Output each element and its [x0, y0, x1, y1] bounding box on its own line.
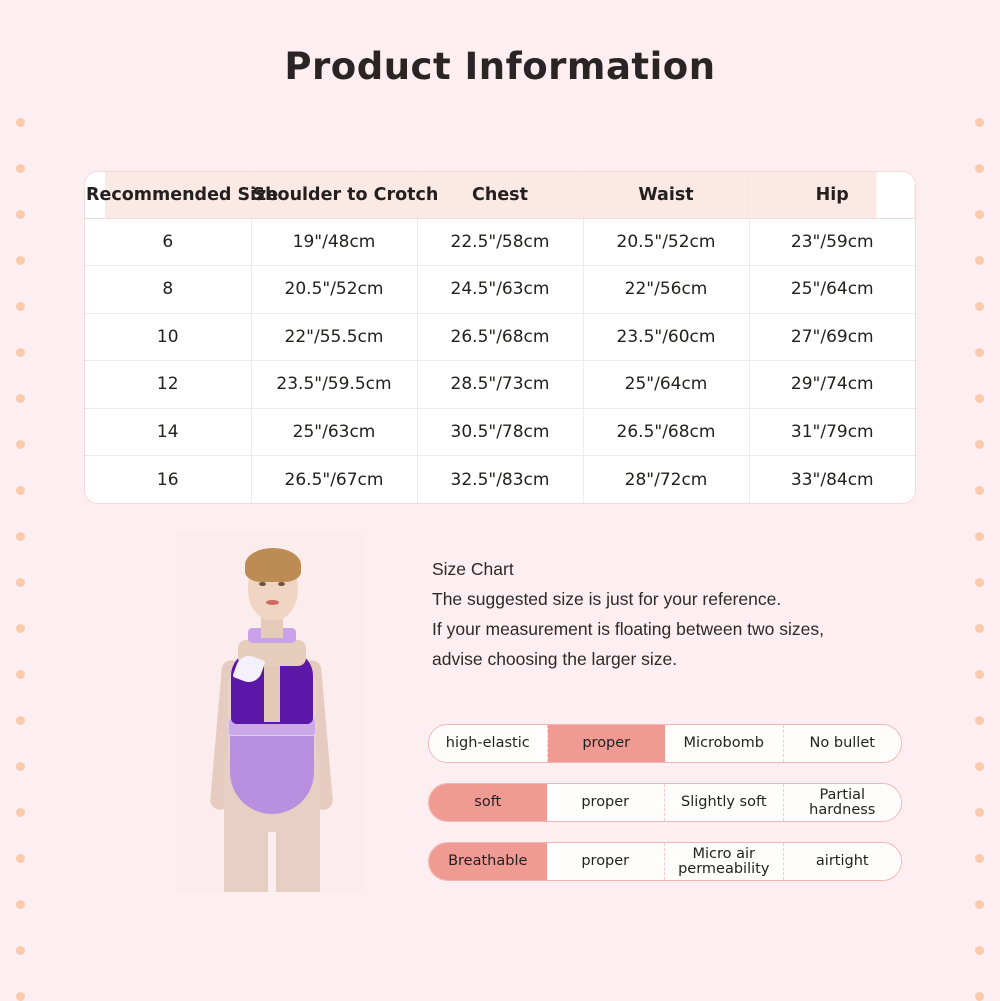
decorative-dot [16, 210, 25, 219]
decorative-dot [975, 670, 984, 679]
attribute-bar-elasticity: high-elasticproperMicrobombNo bullet [428, 724, 902, 763]
decorative-dot [975, 854, 984, 863]
decorative-dot [975, 486, 984, 495]
decorative-dot [16, 808, 25, 817]
table-row: 820.5"/52cm24.5"/63cm22"/56cm25"/64cm [85, 266, 915, 314]
right-dot-column [960, 0, 1000, 1000]
decorative-dot [975, 302, 984, 311]
page-title: Product Information [0, 45, 1000, 88]
model-eye-left [259, 582, 266, 586]
size-note-line-3: advise choosing the larger size. [432, 644, 912, 674]
attribute-segment[interactable]: No bullet [784, 725, 902, 762]
decorative-dot [16, 578, 25, 587]
table-cell: 31"/79cm [749, 408, 915, 456]
decorative-dot [16, 624, 25, 633]
model-mouth [266, 600, 279, 605]
decorative-dot [975, 348, 984, 357]
decorative-dot [975, 210, 984, 219]
decorative-dot [16, 394, 25, 403]
decorative-dot [16, 118, 25, 127]
decorative-dot [975, 394, 984, 403]
table-cell: 27"/69cm [749, 313, 915, 361]
table-cell: 23.5"/59.5cm [251, 361, 417, 409]
table-column-header-1: Shoulder to Crotch [251, 172, 417, 218]
table-cell: 22"/56cm [583, 266, 749, 314]
decorative-dot [16, 532, 25, 541]
table-cell: 24.5"/63cm [417, 266, 583, 314]
attribute-segment[interactable]: airtight [784, 843, 902, 880]
table-cell: 25"/63cm [251, 408, 417, 456]
table-cell: 29"/74cm [749, 361, 915, 409]
decorative-dot [975, 578, 984, 587]
model-eye-right [278, 582, 285, 586]
table-body: 619"/48cm22.5"/58cm20.5"/52cm23"/59cm820… [85, 218, 915, 503]
decorative-dot [975, 946, 984, 955]
decorative-dot [975, 808, 984, 817]
table-row: 1425"/63cm30.5"/78cm26.5"/68cm31"/79cm [85, 408, 915, 456]
decorative-dot [975, 440, 984, 449]
table-cell: 20.5"/52cm [251, 266, 417, 314]
table-cell: 32.5"/83cm [417, 456, 583, 504]
table-row: 1223.5"/59.5cm28.5"/73cm25"/64cm29"/74cm [85, 361, 915, 409]
table-cell: 14 [85, 408, 251, 456]
table-cell: 23.5"/60cm [583, 313, 749, 361]
attribute-segment[interactable]: high-elastic [429, 725, 548, 762]
table-row: 619"/48cm22.5"/58cm20.5"/52cm23"/59cm [85, 218, 915, 266]
attribute-segment[interactable]: Microbomb [665, 725, 784, 762]
decorative-dot [16, 762, 25, 771]
table-cell: 8 [85, 266, 251, 314]
left-dot-column [0, 0, 40, 1000]
table-cell: 28"/72cm [583, 456, 749, 504]
table-column-header-2: Chest [417, 172, 583, 218]
table-cell: 12 [85, 361, 251, 409]
decorative-dot [975, 716, 984, 725]
table-column-header-4: Hip [749, 172, 915, 218]
model-leg-gap [268, 832, 276, 892]
size-note-heading: Size Chart [432, 554, 912, 584]
decorative-dot [16, 440, 25, 449]
size-chart-note: Size Chart The suggested size is just fo… [432, 554, 912, 674]
table-cell: 22.5"/58cm [417, 218, 583, 266]
decorative-dot [16, 946, 25, 955]
table-cell: 25"/64cm [749, 266, 915, 314]
attribute-bars: high-elasticproperMicrobombNo bulletsoft… [428, 724, 902, 901]
decorative-dot [975, 762, 984, 771]
table-cell: 25"/64cm [583, 361, 749, 409]
table-cell: 26.5"/67cm [251, 456, 417, 504]
table-header-row: Recommended SizeShoulder to CrotchChestW… [85, 172, 915, 218]
attribute-segment-active[interactable]: Breathable [429, 843, 547, 880]
decorative-dot [16, 164, 25, 173]
attribute-bar-breathability: BreathableproperMicro air permeabilityai… [428, 842, 902, 881]
attribute-segment[interactable]: Micro air permeability [665, 843, 784, 880]
decorative-dot [16, 670, 25, 679]
decorative-dot [16, 854, 25, 863]
table-cell: 30.5"/78cm [417, 408, 583, 456]
attribute-segment[interactable]: Partial hardness [784, 784, 902, 821]
decorative-dot [975, 118, 984, 127]
table-cell: 22"/55.5cm [251, 313, 417, 361]
table-row: 1022"/55.5cm26.5"/68cm23.5"/60cm27"/69cm [85, 313, 915, 361]
model-hair [245, 548, 301, 582]
table-cell: 19"/48cm [251, 218, 417, 266]
table-column-header-3: Waist [583, 172, 749, 218]
product-photo [176, 532, 366, 892]
decorative-dot [975, 900, 984, 909]
attribute-segment[interactable]: Slightly soft [665, 784, 784, 821]
decorative-dot [975, 624, 984, 633]
decorative-dot [16, 256, 25, 265]
decorative-dot [975, 256, 984, 265]
decorative-dot [16, 900, 25, 909]
table-cell: 6 [85, 218, 251, 266]
decorative-dot [975, 164, 984, 173]
table-column-header-0: Recommended Size [85, 172, 251, 218]
table-row: 1626.5"/67cm32.5"/83cm28"/72cm33"/84cm [85, 456, 915, 504]
table-cell: 26.5"/68cm [417, 313, 583, 361]
attribute-segment[interactable]: proper [547, 784, 666, 821]
size-note-line-1: The suggested size is just for your refe… [432, 584, 912, 614]
attribute-segment[interactable]: proper [547, 843, 666, 880]
decorative-dot [975, 532, 984, 541]
decorative-dot [16, 486, 25, 495]
table-cell: 28.5"/73cm [417, 361, 583, 409]
size-note-line-2: If your measurement is floating between … [432, 614, 912, 644]
attribute-bar-softness: softproperSlightly softPartial hardness [428, 783, 902, 822]
table-cell: 23"/59cm [749, 218, 915, 266]
attribute-segment-active[interactable]: proper [548, 725, 666, 762]
table-cell: 16 [85, 456, 251, 504]
decorative-dot [16, 302, 25, 311]
leotard-lower [230, 728, 314, 814]
attribute-segment-active[interactable]: soft [429, 784, 547, 821]
decorative-dot [16, 716, 25, 725]
decorative-dot [16, 348, 25, 357]
table-cell: 33"/84cm [749, 456, 915, 504]
size-chart-table: Recommended SizeShoulder to CrotchChestW… [84, 171, 916, 504]
table-cell: 26.5"/68cm [583, 408, 749, 456]
table-cell: 20.5"/52cm [583, 218, 749, 266]
table-cell: 10 [85, 313, 251, 361]
